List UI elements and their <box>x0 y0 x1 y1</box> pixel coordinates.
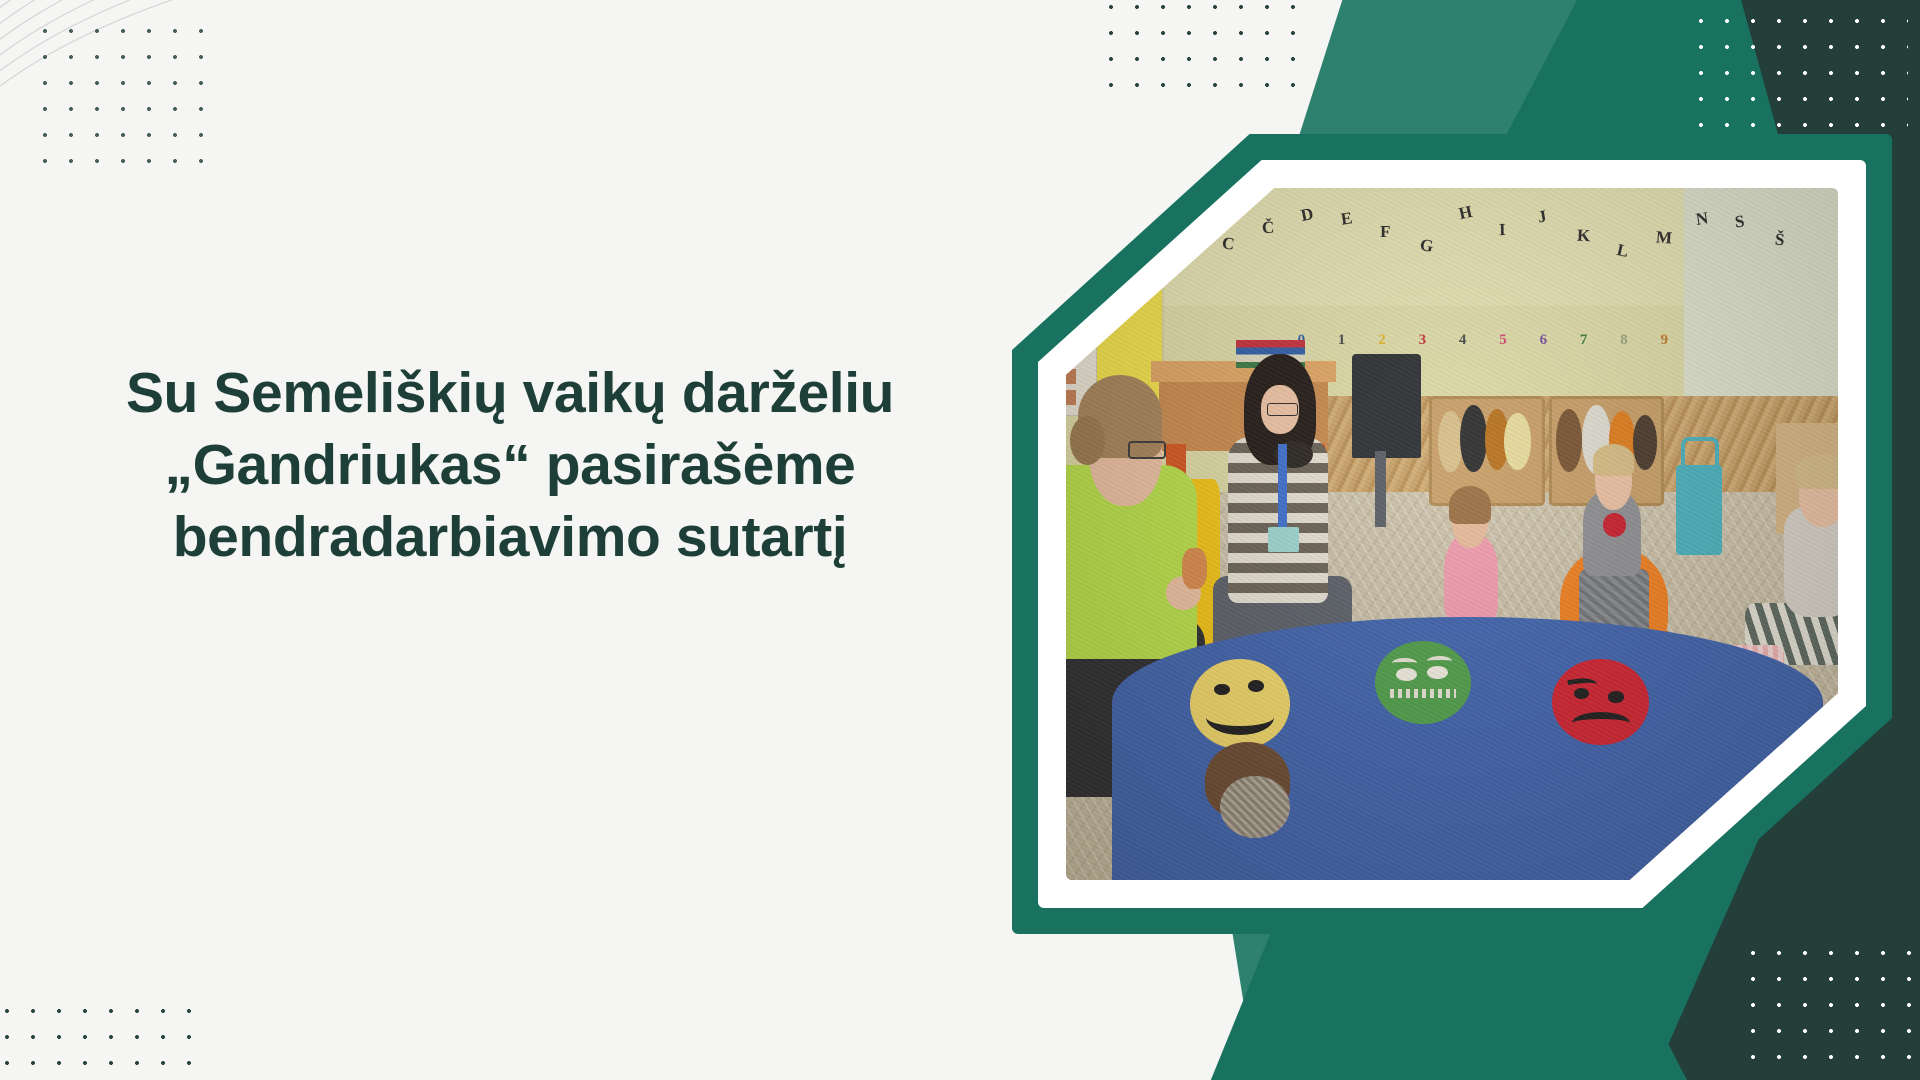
worried-face <box>1375 641 1472 724</box>
wall-number: 7 <box>1580 332 1588 349</box>
wall-letter: S <box>1734 211 1746 232</box>
wall-letter: F <box>1380 222 1390 242</box>
wall-number: 2 <box>1378 332 1386 349</box>
wall-letter: G <box>1418 235 1434 257</box>
assistant-badge <box>1268 527 1299 552</box>
wall-number: 1 <box>1338 332 1346 349</box>
happy-face <box>1190 659 1290 749</box>
bottom-left-dot-grid <box>0 998 204 1080</box>
black-chair <box>1352 354 1421 458</box>
assistant-lanyard <box>1278 444 1287 534</box>
assistant-glasses <box>1267 403 1298 417</box>
teacher-glasses <box>1128 441 1167 459</box>
wall-number: 3 <box>1419 332 1427 349</box>
banner-canvas: Su Semeliškių vaikų darželiu „Gandriukas… <box>0 0 1920 1080</box>
classroom-photo-scene: AĄBCČDEFGHIJKLMNSŠ 0123456789 <box>1066 188 1838 880</box>
top-right-dot-grid <box>1688 8 1908 138</box>
wall-number: 5 <box>1499 332 1507 349</box>
wall-letter: Š <box>1774 230 1785 251</box>
page-title: Su Semeliškių vaikų darželiu „Gandriukas… <box>60 358 960 573</box>
top-middle-dot-grid <box>1098 0 1298 94</box>
wall-number: 9 <box>1661 332 1669 349</box>
girl-hair <box>1449 486 1491 524</box>
classroom-photo: AĄBCČDEFGHIJKLMNSŠ 0123456789 <box>1066 188 1838 880</box>
wall-letter: M <box>1656 228 1673 249</box>
headline-line-1: Su Semeliškių vaikų darželiu <box>60 358 960 430</box>
wall-letter: N <box>1694 209 1709 231</box>
bottom-right-dot-grid <box>1740 940 1920 1060</box>
wall-number: 6 <box>1540 332 1548 349</box>
angry-face <box>1552 659 1649 746</box>
spiderman-motif <box>1603 513 1626 537</box>
wall-letter: I <box>1498 220 1505 240</box>
headline-line-3: bendradarbiavimo sutartį <box>60 502 960 574</box>
hand-puppet <box>1182 548 1207 590</box>
teacher-hair-bun <box>1070 416 1105 464</box>
boy-hair <box>1593 444 1635 476</box>
photo-card: AĄBCČDEFGHIJKLMNSŠ 0123456789 <box>1012 134 1892 934</box>
wall-number: 4 <box>1459 332 1467 349</box>
wall-letter: Č <box>1261 217 1274 238</box>
wall-letter: D <box>1299 204 1315 226</box>
top-left-dot-grid <box>32 18 212 178</box>
wall-letter: K <box>1577 226 1591 247</box>
wall-letter: C <box>1221 234 1236 256</box>
child-right-hair <box>1796 454 1838 489</box>
wall-letter: L <box>1615 240 1630 262</box>
wall-letter: H <box>1457 202 1474 224</box>
wall-letter: J <box>1536 207 1548 228</box>
teal-toy-trolley <box>1676 465 1722 555</box>
wall-number: 8 <box>1620 332 1628 349</box>
wall-letter: E <box>1339 209 1353 230</box>
headline-line-2: „Gandriukas“ pasirašėme <box>60 430 960 502</box>
black-chair-leg <box>1375 451 1386 527</box>
wicker-sofa-left <box>1429 396 1545 507</box>
furry-plush-toy <box>1220 776 1289 838</box>
teal-toy-trolley-handle <box>1681 437 1720 472</box>
wall-letter: A <box>1104 222 1116 242</box>
